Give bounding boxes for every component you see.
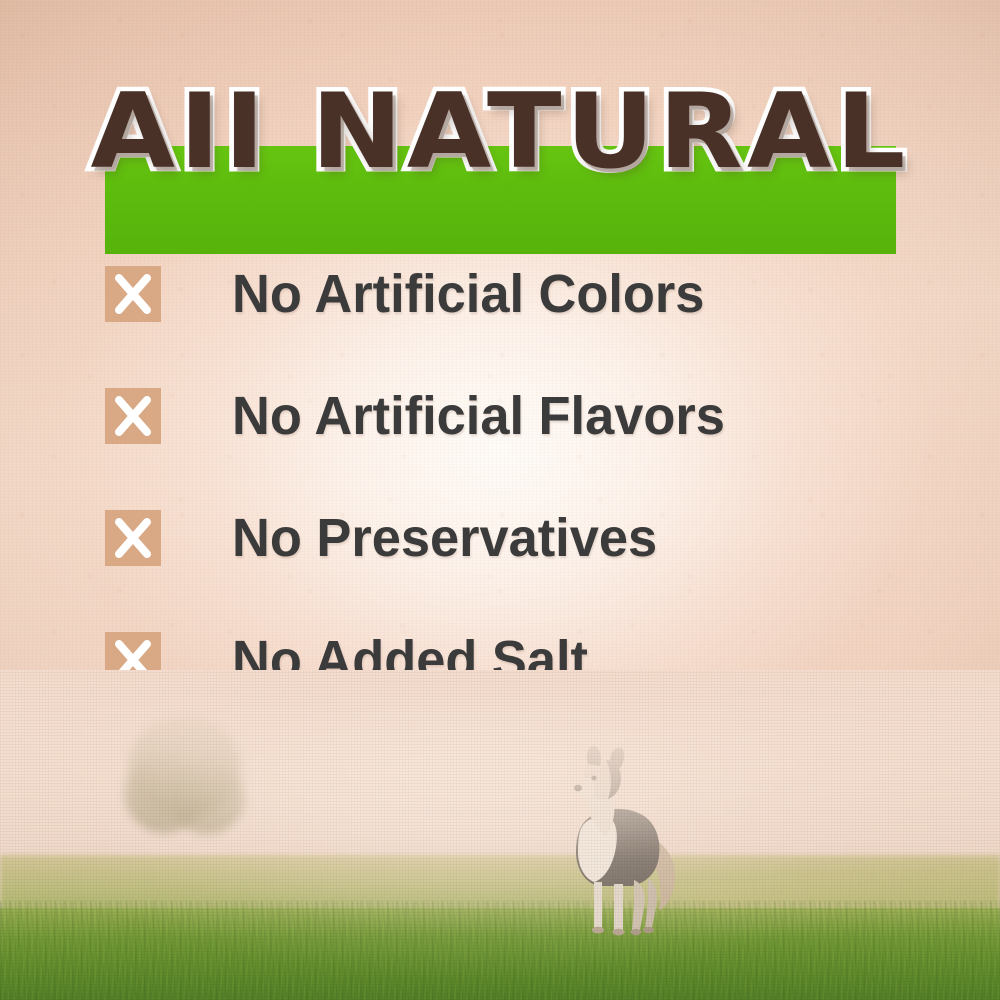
feature-label: No Artificial Flavors bbox=[232, 380, 725, 452]
all-natural-poster: AII NATURAL No Artificial Colors No Arti… bbox=[0, 0, 1000, 1000]
feature-row: No Artificial Flavors bbox=[105, 380, 925, 502]
x-mark-icon bbox=[105, 388, 161, 444]
feature-row: No Artificial Colors bbox=[105, 258, 925, 380]
headline-banner: AII NATURAL bbox=[0, 72, 1000, 192]
feature-label: No Artificial Colors bbox=[232, 258, 704, 330]
landscape-photo bbox=[0, 670, 1000, 1000]
feature-label: No Preservatives bbox=[232, 502, 657, 574]
feature-row: No Preservatives bbox=[105, 502, 925, 624]
x-mark-icon bbox=[105, 266, 161, 322]
grass-texture bbox=[0, 901, 1000, 1000]
x-mark-icon bbox=[105, 510, 161, 566]
headline-title: AII NATURAL bbox=[0, 72, 1000, 192]
border-collie-dog bbox=[528, 744, 688, 944]
